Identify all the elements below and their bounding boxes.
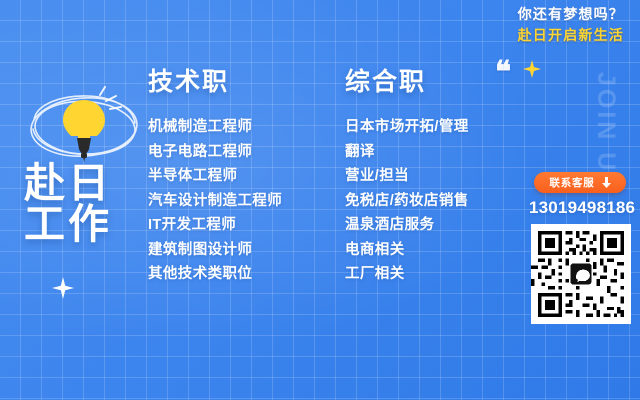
qr-code[interactable]	[531, 224, 631, 324]
list-item: 半导体工程师	[148, 169, 282, 184]
list-item: 建筑制图设计师	[148, 243, 282, 258]
list-item: 营业/担当	[345, 169, 469, 184]
sparkle-white-icon	[52, 277, 74, 304]
column-technical-jobs: 技术职 机械制造工程师 电子电路工程师 半导体工程师 汽车设计制造工程师 IT开…	[148, 62, 282, 292]
list-item: IT开发工程师	[148, 218, 282, 233]
job-list-general: 日本市场开拓/管理 翻译 营业/担当 免税店/药妆店销售 温泉酒店服务 电商相关…	[345, 120, 469, 282]
list-item: 汽车设计制造工程师	[148, 194, 282, 209]
poster-canvas: JOIN US 你还有梦想吗？ 赴日开启新生活 ❝	[0, 0, 640, 400]
list-item: 日本市场开拓/管理	[345, 120, 469, 135]
list-item: 温泉酒店服务	[345, 218, 469, 233]
slogan-line-2: 赴日开启新生活	[518, 27, 624, 45]
page-title-line-1: 赴日	[24, 163, 112, 204]
quote-mark-icon: ❝	[495, 58, 511, 88]
job-list-technical: 机械制造工程师 电子电路工程师 半导体工程师 汽车设计制造工程师 IT开发工程师…	[148, 120, 282, 282]
list-item: 电子电路工程师	[148, 145, 282, 160]
list-item: 电商相关	[345, 243, 469, 258]
list-item: 免税店/药妆店销售	[345, 194, 469, 209]
list-item: 机械制造工程师	[148, 120, 282, 135]
page-title-line-2: 工作	[24, 204, 112, 245]
page-title: 赴日 工作	[24, 163, 112, 244]
column-heading-general: 综合职	[345, 62, 469, 98]
lightbulb-icon	[22, 82, 147, 170]
contact-support-button[interactable]: 联系客服	[534, 172, 626, 193]
sparkle-yellow-icon	[523, 60, 541, 83]
arrow-down-icon	[602, 177, 611, 188]
slogan-line-1: 你还有梦想吗？	[518, 6, 624, 24]
phone-number[interactable]: 13019498186	[529, 198, 633, 218]
contact-support-label: 联系客服	[549, 175, 594, 190]
column-heading-technical: 技术职	[148, 62, 282, 98]
list-item: 工厂相关	[345, 267, 469, 282]
slogan-block: 你还有梦想吗？ 赴日开启新生活	[518, 6, 624, 45]
list-item: 翻译	[345, 145, 469, 160]
column-general-jobs: 综合职 日本市场开拓/管理 翻译 营业/担当 免税店/药妆店销售 温泉酒店服务 …	[345, 62, 469, 292]
list-item: 其他技术类职位	[148, 267, 282, 282]
